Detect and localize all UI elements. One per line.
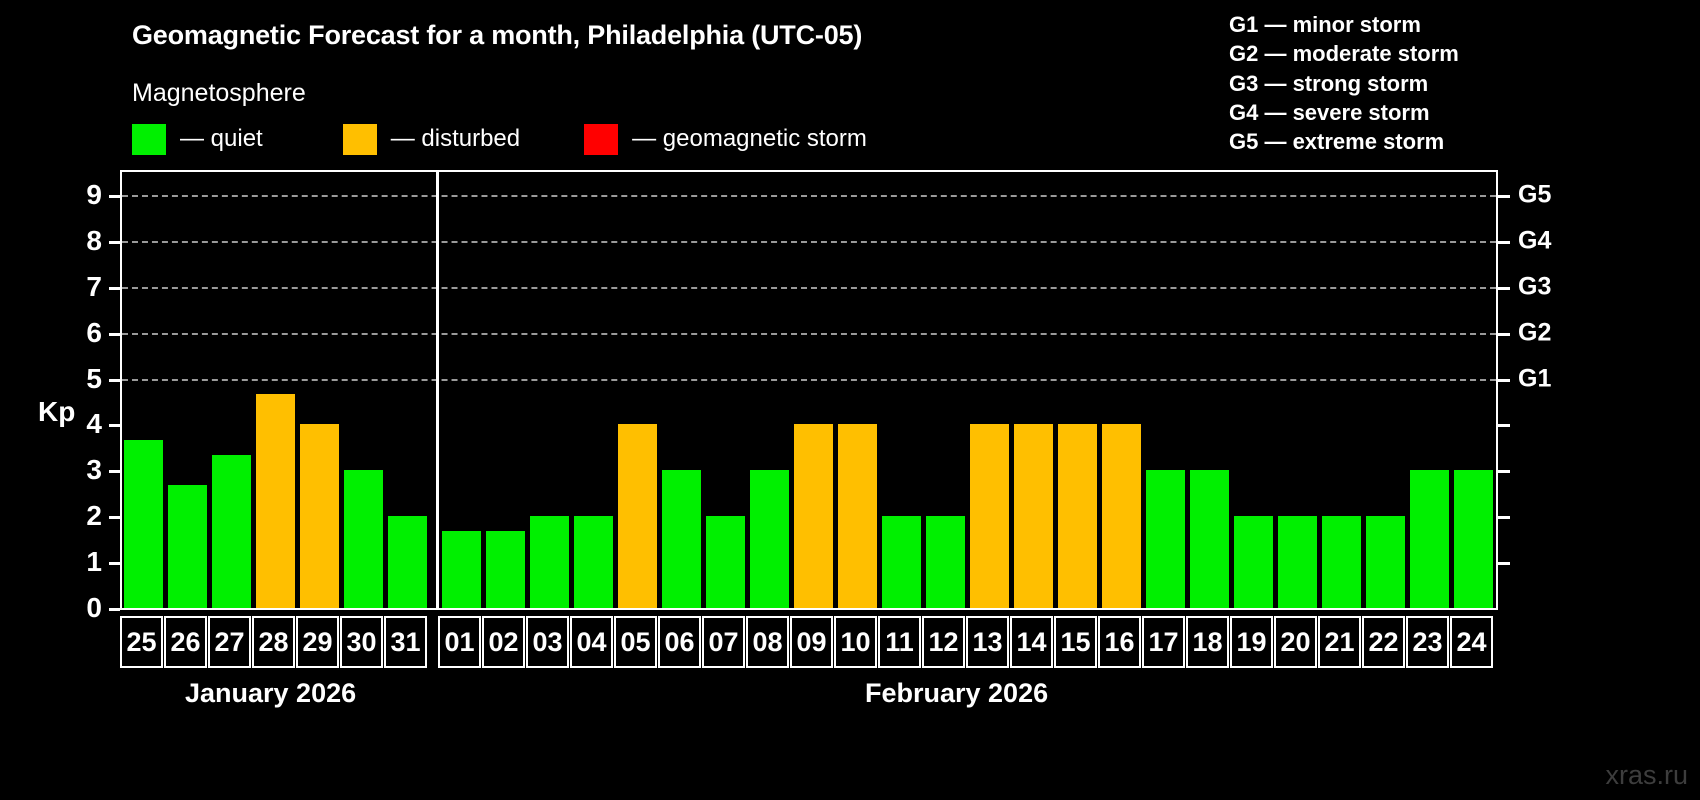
- date-label-07[interactable]: 07: [702, 616, 745, 668]
- bar-29[interactable]: [300, 424, 339, 608]
- month-label-february: February 2026: [865, 678, 1048, 709]
- y-tick-right-3: [1498, 470, 1510, 473]
- bar-17[interactable]: [1146, 470, 1185, 608]
- y-tick-label-0: 0: [62, 592, 102, 624]
- bar-21[interactable]: [1322, 516, 1361, 608]
- date-label-06[interactable]: 06: [658, 616, 701, 668]
- bar-12[interactable]: [926, 516, 965, 608]
- y-tick-5: [109, 379, 120, 382]
- bar-16[interactable]: [1102, 424, 1141, 608]
- g-scale-label-g2: G2: [1518, 318, 1551, 347]
- y-tick-label-8: 8: [62, 225, 102, 257]
- y-tick-right-5: [1498, 379, 1510, 382]
- date-label-19[interactable]: 19: [1230, 616, 1273, 668]
- bar-27[interactable]: [212, 455, 251, 608]
- g-scale-label-g3: G3: [1518, 272, 1551, 301]
- bar-25[interactable]: [124, 440, 163, 608]
- y-tick-1: [109, 562, 120, 565]
- bar-10[interactable]: [838, 424, 877, 608]
- date-label-14[interactable]: 14: [1010, 616, 1053, 668]
- date-label-02[interactable]: 02: [482, 616, 525, 668]
- month-label-january: January 2026: [185, 678, 356, 709]
- date-label-09[interactable]: 09: [790, 616, 833, 668]
- y-tick-label-9: 9: [62, 179, 102, 211]
- bar-02[interactable]: [486, 531, 525, 608]
- bar-18[interactable]: [1190, 470, 1229, 608]
- g-scale-label-g5: G5: [1518, 180, 1551, 209]
- date-label-17[interactable]: 17: [1142, 616, 1185, 668]
- bar-22[interactable]: [1366, 516, 1405, 608]
- bar-09[interactable]: [794, 424, 833, 608]
- date-label-11[interactable]: 11: [878, 616, 921, 668]
- bar-31[interactable]: [388, 516, 427, 608]
- y-tick-right-1: [1498, 562, 1510, 565]
- date-label-13[interactable]: 13: [966, 616, 1009, 668]
- y-tick-right-9: [1498, 195, 1510, 198]
- date-label-22[interactable]: 22: [1362, 616, 1405, 668]
- date-label-15[interactable]: 15: [1054, 616, 1097, 668]
- y-tick-label-2: 2: [62, 500, 102, 532]
- bar-24[interactable]: [1454, 470, 1493, 608]
- date-label-29[interactable]: 29: [296, 616, 339, 668]
- y-tick-right-4: [1498, 424, 1510, 427]
- y-tick-label-6: 6: [62, 317, 102, 349]
- plot-area: [120, 170, 1498, 610]
- y-tick-label-3: 3: [62, 454, 102, 486]
- bar-19[interactable]: [1234, 516, 1273, 608]
- bar-05[interactable]: [618, 424, 657, 608]
- bar-03[interactable]: [530, 516, 569, 608]
- y-tick-label-1: 1: [62, 546, 102, 578]
- bar-30[interactable]: [344, 470, 383, 608]
- date-label-12[interactable]: 12: [922, 616, 965, 668]
- date-label-08[interactable]: 08: [746, 616, 789, 668]
- y-tick-label-7: 7: [62, 271, 102, 303]
- y-tick-right-7: [1498, 287, 1510, 290]
- bar-series: [122, 172, 1496, 608]
- date-label-03[interactable]: 03: [526, 616, 569, 668]
- date-label-18[interactable]: 18: [1186, 616, 1229, 668]
- bar-07[interactable]: [706, 516, 745, 608]
- bar-20[interactable]: [1278, 516, 1317, 608]
- bar-06[interactable]: [662, 470, 701, 608]
- date-label-01[interactable]: 01: [438, 616, 481, 668]
- date-label-28[interactable]: 28: [252, 616, 295, 668]
- y-tick-8: [109, 241, 120, 244]
- date-label-16[interactable]: 16: [1098, 616, 1141, 668]
- date-label-27[interactable]: 27: [208, 616, 251, 668]
- y-tick-0: [109, 608, 120, 611]
- date-label-05[interactable]: 05: [614, 616, 657, 668]
- date-label-24[interactable]: 24: [1450, 616, 1493, 668]
- date-label-21[interactable]: 21: [1318, 616, 1361, 668]
- g-scale-label-g4: G4: [1518, 226, 1551, 255]
- y-tick-3: [109, 470, 120, 473]
- date-label-26[interactable]: 26: [164, 616, 207, 668]
- bar-11[interactable]: [882, 516, 921, 608]
- bar-13[interactable]: [970, 424, 1009, 608]
- date-label-10[interactable]: 10: [834, 616, 877, 668]
- date-axis: 2526272829303101020304050607080910111213…: [120, 616, 1498, 668]
- bar-01[interactable]: [442, 531, 481, 608]
- bar-15[interactable]: [1058, 424, 1097, 608]
- y-tick-right-6: [1498, 333, 1510, 336]
- date-label-31[interactable]: 31: [384, 616, 427, 668]
- bar-26[interactable]: [168, 485, 207, 608]
- date-label-23[interactable]: 23: [1406, 616, 1449, 668]
- date-label-30[interactable]: 30: [340, 616, 383, 668]
- y-tick-7: [109, 287, 120, 290]
- y-tick-4: [109, 424, 120, 427]
- bar-08[interactable]: [750, 470, 789, 608]
- bar-23[interactable]: [1410, 470, 1449, 608]
- date-label-04[interactable]: 04: [570, 616, 613, 668]
- y-tick-label-5: 5: [62, 363, 102, 395]
- y-tick-right-2: [1498, 516, 1510, 519]
- bar-14[interactable]: [1014, 424, 1053, 608]
- bar-28[interactable]: [256, 394, 295, 608]
- y-tick-2: [109, 516, 120, 519]
- y-tick-9: [109, 195, 120, 198]
- watermark: xras.ru: [1605, 760, 1688, 791]
- y-tick-6: [109, 333, 120, 336]
- bar-04[interactable]: [574, 516, 613, 608]
- y-axis-title: Kp: [38, 396, 75, 428]
- y-tick-right-8: [1498, 241, 1510, 244]
- g-scale-label-g1: G1: [1518, 364, 1551, 393]
- date-label-25[interactable]: 25: [120, 616, 163, 668]
- date-label-20[interactable]: 20: [1274, 616, 1317, 668]
